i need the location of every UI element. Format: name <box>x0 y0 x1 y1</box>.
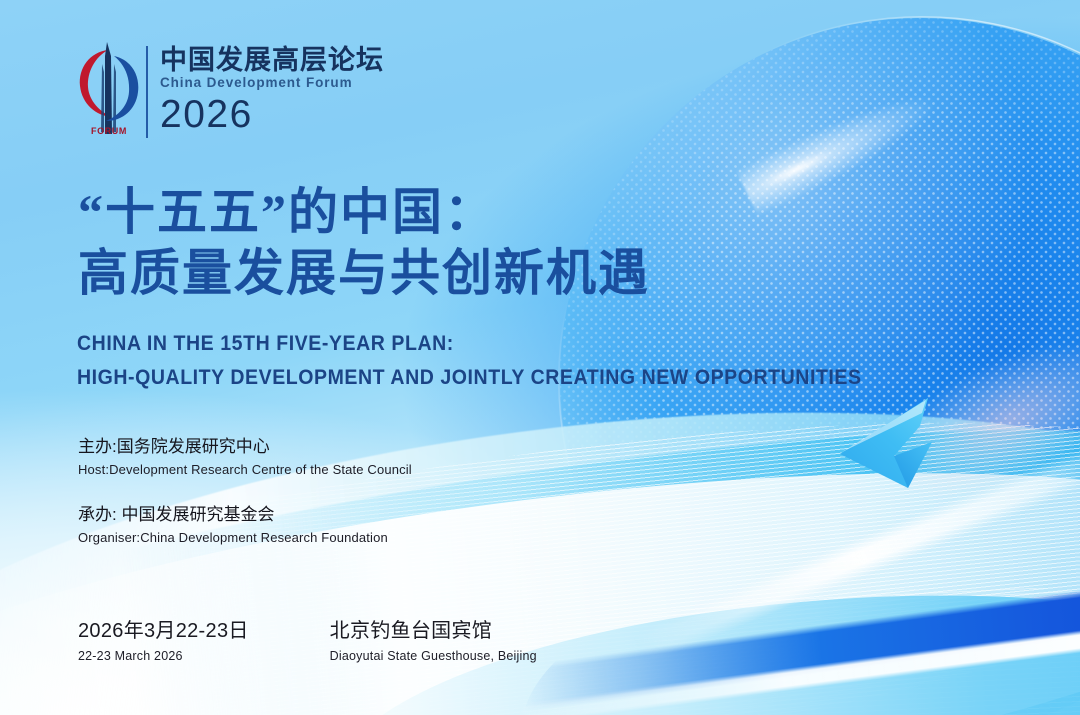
logo-divider <box>146 46 148 138</box>
page-subtitle: CHINA IN THE 15TH FIVE-YEAR PLAN: HIGH-Q… <box>77 327 921 395</box>
host-cn: 主办:国务院发展研究中心 <box>78 434 412 460</box>
date-en: 22-23 March 2026 <box>78 647 249 666</box>
organiser-en: Organiser:China Development Research Fou… <box>78 528 412 548</box>
logo-name-cn: 中国发展高层论坛 <box>160 46 384 74</box>
title-line-1: “十五五”的中国： <box>78 182 650 243</box>
host-info: 主办:国务院发展研究中心 Host:Development Research C… <box>78 434 412 570</box>
host-group: 主办:国务院发展研究中心 Host:Development Research C… <box>78 434 412 479</box>
subtitle-line-2: HIGH-QUALITY DEVELOPMENT AND JOINTLY CRE… <box>77 361 862 395</box>
logo-name-en: China Development Forum <box>160 75 384 92</box>
conference-banner: FORUM 中国发展高层论坛 China Development Forum 2… <box>0 0 1080 715</box>
event-date: 2026年3月22-23日 22-23 March 2026 <box>78 618 249 666</box>
page-title: “十五五”的中国： 高质量发展与共创新机遇 <box>78 182 650 304</box>
logo-forum-word: FORUM <box>91 126 127 136</box>
venue-cn: 北京钓鱼台国宾馆 <box>330 618 537 645</box>
event-details: 2026年3月22-23日 22-23 March 2026 北京钓鱼台国宾馆 … <box>78 618 597 666</box>
date-cn: 2026年3月22-23日 <box>78 618 249 645</box>
organiser-cn: 承办: 中国发展研究基金会 <box>78 502 412 528</box>
organiser-group: 承办: 中国发展研究基金会 Organiser:China Developmen… <box>78 502 412 547</box>
logo-text-block: 中国发展高层论坛 China Development Forum 2026 <box>160 42 384 134</box>
event-venue: 北京钓鱼台国宾馆 Diaoyutai State Guesthouse, Bei… <box>330 618 537 666</box>
title-line-2: 高质量发展与共创新机遇 <box>78 243 650 304</box>
host-en: Host:Development Research Centre of the … <box>78 460 412 480</box>
logo-year: 2026 <box>160 95 384 134</box>
subtitle-line-1: CHINA IN THE 15TH FIVE-YEAR PLAN: <box>77 327 862 361</box>
conference-logo: FORUM 中国发展高层论坛 China Development Forum 2… <box>78 42 384 146</box>
cdf-emblem-icon: FORUM <box>78 42 140 146</box>
venue-en: Diaoyutai State Guesthouse, Beijing <box>330 647 537 666</box>
